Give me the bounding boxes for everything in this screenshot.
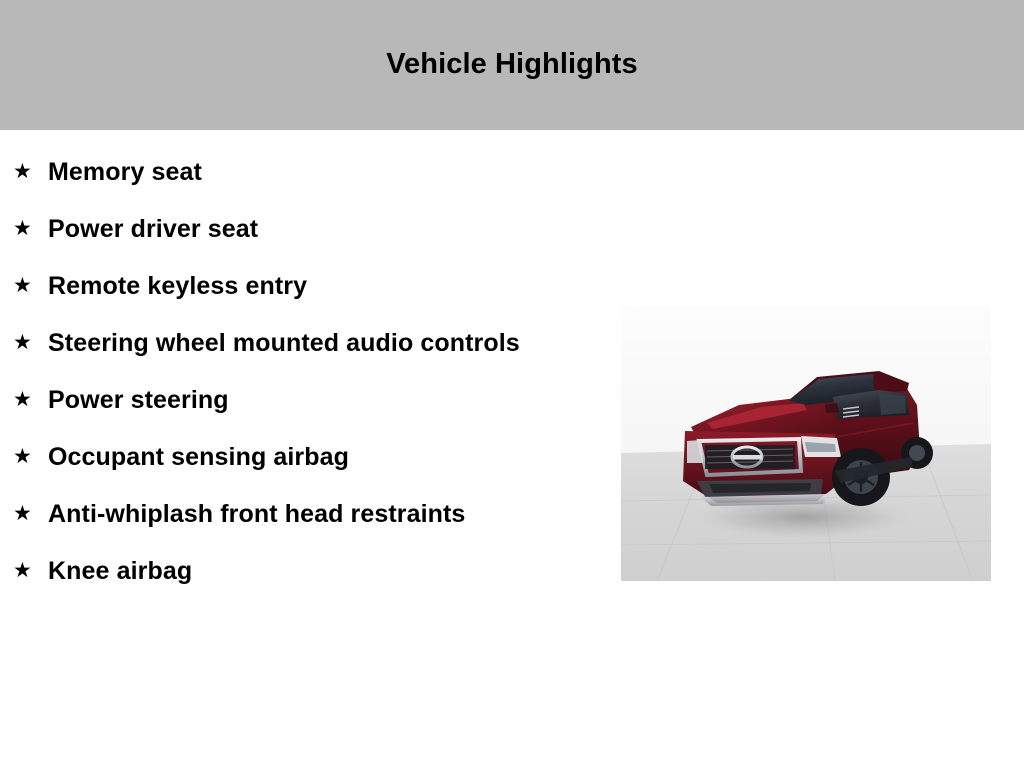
star-bullet-icon: ★ [13, 213, 32, 244]
list-item-label: Remote keyless entry [48, 269, 553, 304]
rear-quarter-window [879, 393, 906, 415]
star-bullet-icon: ★ [13, 327, 32, 358]
header-band: Vehicle Highlights [0, 0, 1024, 130]
list-item-label: Power driver seat [48, 212, 553, 247]
star-bullet-icon: ★ [13, 441, 32, 472]
list-item: ★ Steering wheel mounted audio controls [0, 326, 600, 361]
list-item-label: Anti-whiplash front head restraints [48, 497, 553, 532]
star-bullet-icon: ★ [13, 384, 32, 415]
page-title: Vehicle Highlights [0, 47, 1024, 81]
list-item-label: Occupant sensing airbag [48, 440, 553, 475]
list-item: ★ Power driver seat [0, 212, 600, 247]
list-item: ★ Anti-whiplash front head restraints [0, 497, 600, 532]
star-bullet-icon: ★ [13, 270, 32, 301]
list-item: ★ Knee airbag [0, 554, 600, 589]
star-bullet-icon: ★ [13, 156, 32, 187]
list-item-label: Knee airbag [48, 554, 553, 589]
vehicle-photo [621, 305, 991, 581]
list-item: ★ Occupant sensing airbag [0, 440, 600, 475]
list-item-label: Power steering [48, 383, 553, 418]
headlight-left [687, 440, 703, 463]
star-bullet-icon: ★ [13, 498, 32, 529]
rear-wheel-rim [909, 445, 925, 461]
list-item: ★ Remote keyless entry [0, 269, 600, 304]
star-bullet-icon: ★ [13, 555, 32, 586]
vehicle-highlights-list: ★ Memory seat ★ Power driver seat ★ Remo… [0, 130, 600, 611]
list-item-label: Steering wheel mounted audio controls [48, 326, 553, 361]
list-item-label: Memory seat [48, 155, 553, 190]
list-item: ★ Memory seat [0, 155, 600, 190]
list-item: ★ Power steering [0, 383, 600, 418]
brand-emblem-bar [733, 455, 762, 460]
